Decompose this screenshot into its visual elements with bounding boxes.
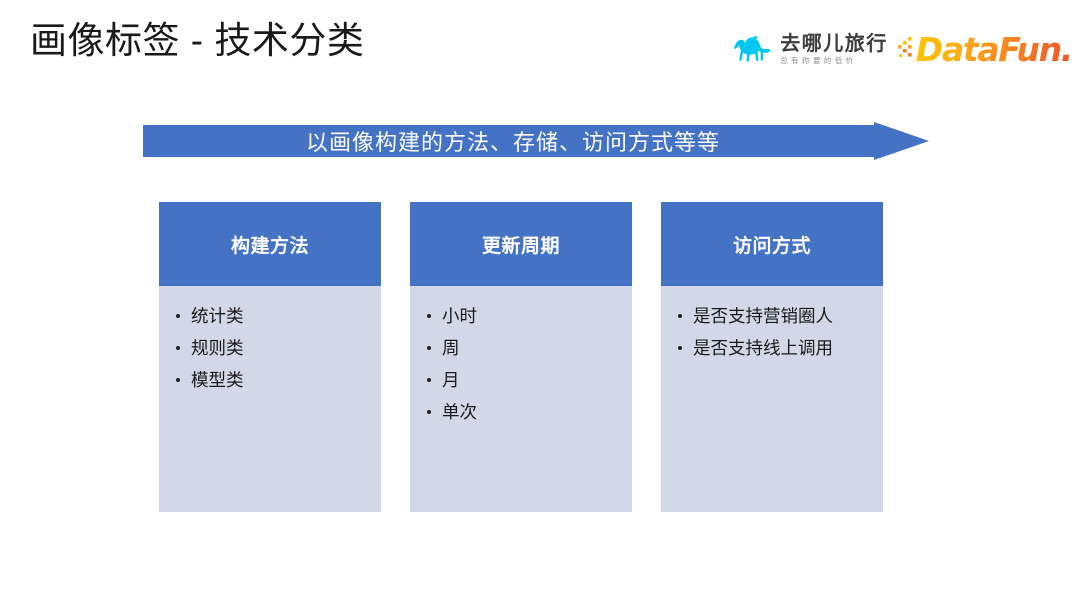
card-build-method: 构建方法 统计类 规则类 模型类 xyxy=(159,202,381,512)
card-title: 构建方法 xyxy=(231,231,309,258)
bullet-list: 小时 周 月 单次 xyxy=(426,300,622,428)
card-body: 是否支持营销圈人 是否支持线上调用 xyxy=(661,286,883,512)
camel-icon xyxy=(729,32,775,66)
card-body: 统计类 规则类 模型类 xyxy=(159,286,381,512)
card-title: 访问方式 xyxy=(733,231,811,258)
bullet-list: 统计类 规则类 模型类 xyxy=(175,300,371,396)
list-item: 是否支持线上调用 xyxy=(677,332,873,364)
list-item: 单次 xyxy=(426,396,622,428)
datafun-dots-icon xyxy=(898,36,915,62)
list-item: 是否支持营销圈人 xyxy=(677,300,873,332)
qunar-logo: 去哪儿旅行 总有你要的低价 xyxy=(729,32,888,66)
card-header: 访问方式 xyxy=(661,202,883,286)
qunar-brand-name: 去哪儿旅行 xyxy=(780,34,888,54)
category-card-group: 构建方法 统计类 规则类 模型类 更新周期 小时 周 月 单次 xyxy=(159,202,884,512)
list-item: 小时 xyxy=(426,300,622,332)
card-body: 小时 周 月 单次 xyxy=(410,286,632,512)
list-item: 模型类 xyxy=(175,364,371,396)
card-header: 更新周期 xyxy=(410,202,632,286)
card-update-cycle: 更新周期 小时 周 月 单次 xyxy=(410,202,632,512)
logo-block: 去哪儿旅行 总有你要的低价 DataFun. xyxy=(729,26,1074,72)
card-header: 构建方法 xyxy=(159,202,381,286)
datafun-logo: DataFun. xyxy=(898,33,1074,66)
card-access-method: 访问方式 是否支持营销圈人 是否支持线上调用 xyxy=(661,202,883,512)
datafun-wordmark: DataFun. xyxy=(916,33,1074,66)
card-title: 更新周期 xyxy=(482,231,560,258)
list-item: 月 xyxy=(426,364,622,396)
slide-canvas: 画像标签 - 技术分类 去哪儿旅行 总有你要的低价 DataF xyxy=(0,0,1080,608)
bullet-list: 是否支持营销圈人 是否支持线上调用 xyxy=(677,300,873,364)
arrow-banner-label: 以画像构建的方法、存储、访问方式等等 xyxy=(143,122,883,160)
page-title: 画像标签 - 技术分类 xyxy=(30,18,364,64)
list-item: 周 xyxy=(426,332,622,364)
qunar-slogan: 总有你要的低价 xyxy=(780,57,888,64)
list-item: 统计类 xyxy=(175,300,371,332)
list-item: 规则类 xyxy=(175,332,371,364)
qunar-wordmark: 去哪儿旅行 总有你要的低价 xyxy=(780,34,888,65)
